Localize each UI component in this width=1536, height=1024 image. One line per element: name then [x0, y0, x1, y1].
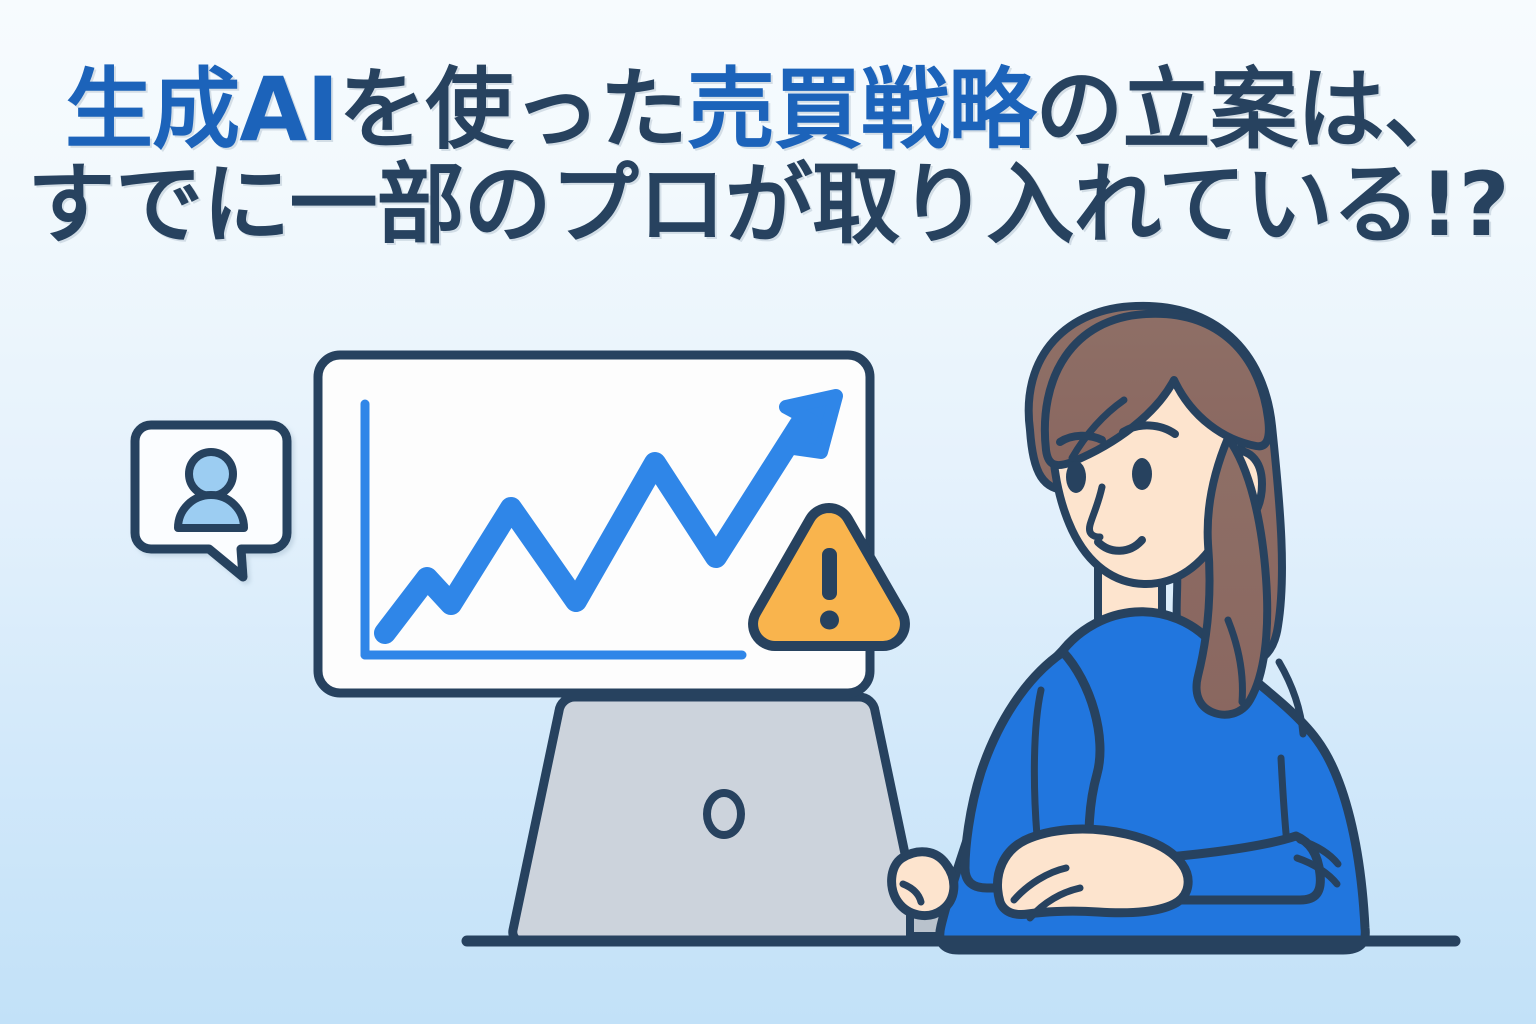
eye-left [1066, 461, 1086, 493]
warning-exclamation-dot [820, 611, 839, 630]
laptop-base-lid [513, 697, 921, 942]
right-hand [998, 829, 1189, 914]
person-figure [892, 306, 1366, 950]
eye-right [1132, 458, 1152, 490]
illustration-canvas: 生成AIを使った売買戦略の立案は、 すでに一部のプロが取り入れている!? [0, 0, 1536, 1024]
laptop-screen [318, 355, 905, 693]
warning-exclamation-bar [822, 548, 837, 600]
scene-illustration [0, 0, 1536, 1024]
speech-bubble [135, 425, 287, 577]
